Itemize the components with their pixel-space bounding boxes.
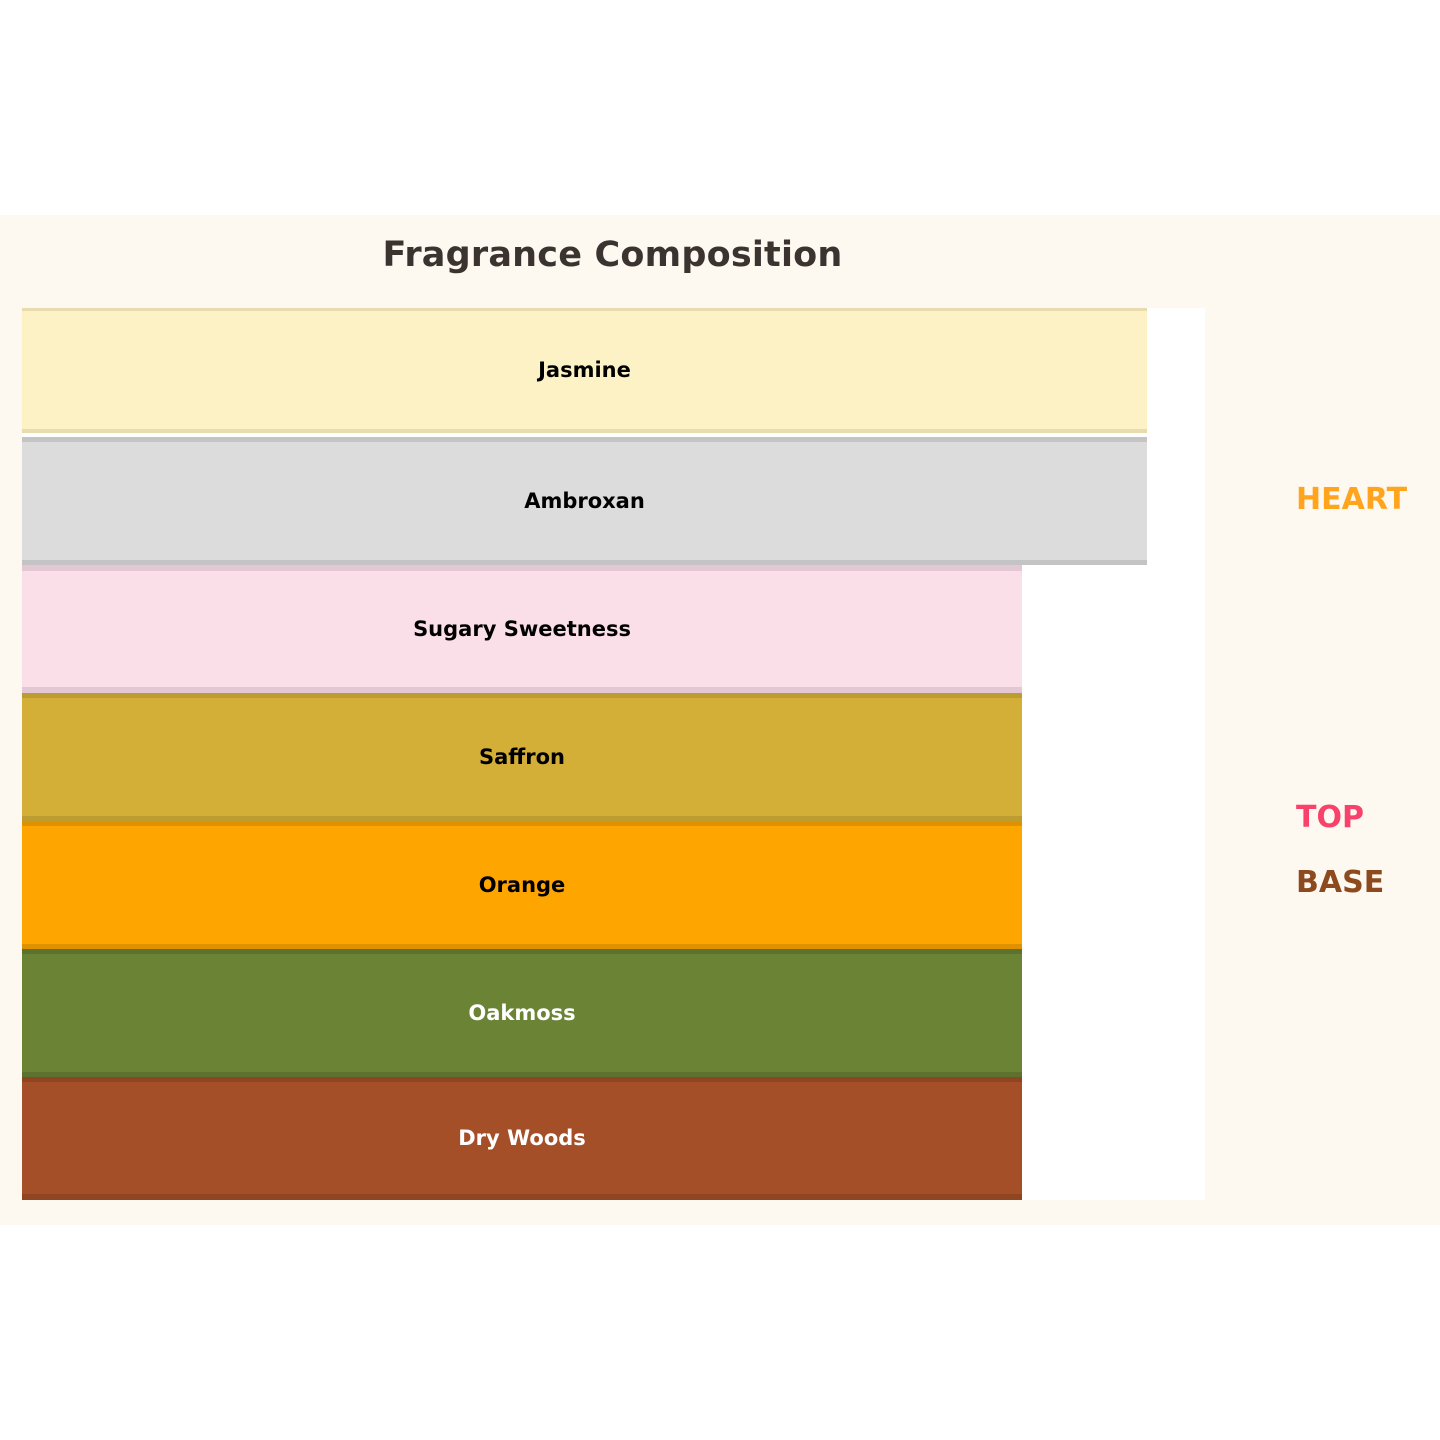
bar-dry-woods[interactable]: Dry Woods bbox=[22, 1077, 1022, 1200]
bar-label-orange: Orange bbox=[479, 873, 566, 897]
plot-area: Jasmine Ambroxan Sugary Sweetness Saffro… bbox=[22, 308, 1205, 1200]
figure-panel: Fragrance Composition Jasmine Ambroxan S… bbox=[0, 215, 1440, 1225]
bar-oakmoss[interactable]: Oakmoss bbox=[22, 949, 1022, 1077]
bar-label-sugary-sweetness: Sugary Sweetness bbox=[413, 617, 631, 641]
bar-label-ambroxan: Ambroxan bbox=[524, 489, 645, 513]
chart-canvas: Fragrance Composition Jasmine Ambroxan S… bbox=[0, 0, 1440, 1440]
stage-label-base: BASE bbox=[1296, 865, 1384, 900]
stage-label-top: TOP bbox=[1296, 800, 1364, 835]
bar-label-oakmoss: Oakmoss bbox=[468, 1001, 575, 1025]
bar-ambroxan[interactable]: Ambroxan bbox=[22, 437, 1147, 565]
bar-jasmine[interactable]: Jasmine bbox=[22, 308, 1147, 433]
bar-orange[interactable]: Orange bbox=[22, 821, 1022, 949]
page-title: Fragrance Composition bbox=[0, 235, 1225, 275]
bar-saffron[interactable]: Saffron bbox=[22, 693, 1022, 821]
bar-label-saffron: Saffron bbox=[479, 745, 565, 769]
bar-label-jasmine: Jasmine bbox=[538, 358, 631, 382]
bar-sugary-sweetness[interactable]: Sugary Sweetness bbox=[22, 565, 1022, 693]
stage-label-heart: HEART bbox=[1296, 482, 1407, 517]
bar-label-dry-woods: Dry Woods bbox=[458, 1126, 586, 1150]
